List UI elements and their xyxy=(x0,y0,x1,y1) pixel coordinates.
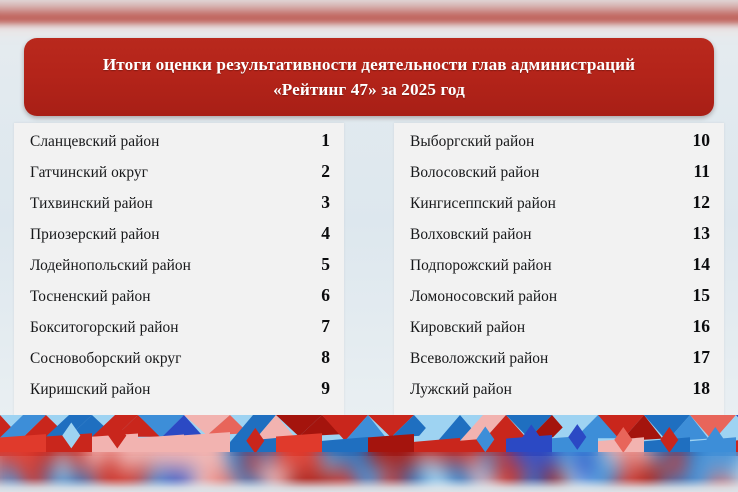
ranking-row-name: Кировский район xyxy=(410,319,680,337)
ranking-row: Волховский район13 xyxy=(394,223,724,254)
ranking-panel-left: Сланцевский район1Гатчинский округ2Тихви… xyxy=(14,123,344,415)
ranking-panels: Сланцевский район1Гатчинский округ2Тихви… xyxy=(14,123,724,415)
ranking-row-name: Тосненский район xyxy=(30,288,300,306)
ranking-row: Приозерский район4 xyxy=(14,223,344,254)
ranking-row: Лужский район18 xyxy=(394,378,724,409)
ranking-row: Сланцевский район1 xyxy=(14,130,344,161)
bottom-fade xyxy=(0,478,738,492)
slide-root: Итоги оценки результативности деятельнос… xyxy=(0,0,738,492)
ranking-row: Подпорожский район14 xyxy=(394,254,724,285)
chevron-pattern-icon xyxy=(0,415,738,456)
ranking-row: Лодейнопольский район5 xyxy=(14,254,344,285)
ranking-row-name: Волосовский район xyxy=(410,164,680,182)
ranking-row-rank: 1 xyxy=(300,130,330,151)
ranking-row-name: Сланцевский район xyxy=(30,133,300,151)
ranking-row-rank: 4 xyxy=(300,223,330,244)
top-bleed-decoration xyxy=(0,0,738,28)
ranking-row-name: Лужский район xyxy=(410,381,680,399)
ranking-row-rank: 15 xyxy=(680,285,710,306)
ranking-row-rank: 16 xyxy=(680,316,710,337)
ranking-row: Кировский район16 xyxy=(394,316,724,347)
ranking-row-rank: 6 xyxy=(300,285,330,306)
ranking-row: Всеволожский район17 xyxy=(394,347,724,378)
ranking-row: Ломоносовский район15 xyxy=(394,285,724,316)
ranking-row-name: Волховский район xyxy=(410,226,680,244)
ranking-row: Тихвинский район3 xyxy=(14,192,344,223)
ranking-row-rank: 10 xyxy=(680,130,710,151)
ranking-row-rank: 7 xyxy=(300,316,330,337)
ranking-row: Гатчинский округ2 xyxy=(14,161,344,192)
ranking-row-rank: 12 xyxy=(680,192,710,213)
ranking-row-rank: 11 xyxy=(680,161,710,182)
ranking-row-name: Сосновоборский округ xyxy=(30,350,300,368)
ranking-row-rank: 18 xyxy=(680,378,710,399)
ranking-row-name: Подпорожский район xyxy=(410,257,680,275)
ranking-row-name: Всеволожский район xyxy=(410,350,680,368)
ranking-row: Волосовский район11 xyxy=(394,161,724,192)
ranking-row: Бокситогорский район7 xyxy=(14,316,344,347)
ranking-row: Киришский район9 xyxy=(14,378,344,409)
ranking-row-rank: 8 xyxy=(300,347,330,368)
title-line-2: «Рейтинг 47» за 2025 год xyxy=(273,77,465,102)
ranking-row: Тосненский район6 xyxy=(14,285,344,316)
ranking-row-rank: 9 xyxy=(300,378,330,399)
ranking-row-rank: 14 xyxy=(680,254,710,275)
ranking-row-name: Тихвинский район xyxy=(30,195,300,213)
ranking-row: Выборгский район10 xyxy=(394,130,724,161)
ranking-row-name: Гатчинский округ xyxy=(30,164,300,182)
title-card: Итоги оценки результативности деятельнос… xyxy=(24,38,714,116)
top-bleed-highlight xyxy=(0,26,738,38)
ranking-row-name: Кингисеппский район xyxy=(410,195,680,213)
ranking-row: Сосновоборский округ8 xyxy=(14,347,344,378)
ranking-row: Кингисеппский район12 xyxy=(394,192,724,223)
ranking-row-name: Выборгский район xyxy=(410,133,680,151)
ranking-row-rank: 13 xyxy=(680,223,710,244)
ranking-panel-right: Выборгский район10Волосовский район11Кин… xyxy=(394,123,724,415)
ranking-row-name: Ломоносовский район xyxy=(410,288,680,306)
ranking-row-name: Лодейнопольский район xyxy=(30,257,300,275)
ranking-row-rank: 5 xyxy=(300,254,330,275)
ranking-row-name: Киришский район xyxy=(30,381,300,399)
ranking-row-rank: 17 xyxy=(680,347,710,368)
ranking-row-rank: 3 xyxy=(300,192,330,213)
ranking-row-name: Бокситогорский район xyxy=(30,319,300,337)
title-line-1: Итоги оценки результативности деятельнос… xyxy=(103,52,635,77)
decorative-pattern-band xyxy=(0,415,738,456)
ranking-row-name: Приозерский район xyxy=(30,226,300,244)
ranking-row-rank: 2 xyxy=(300,161,330,182)
